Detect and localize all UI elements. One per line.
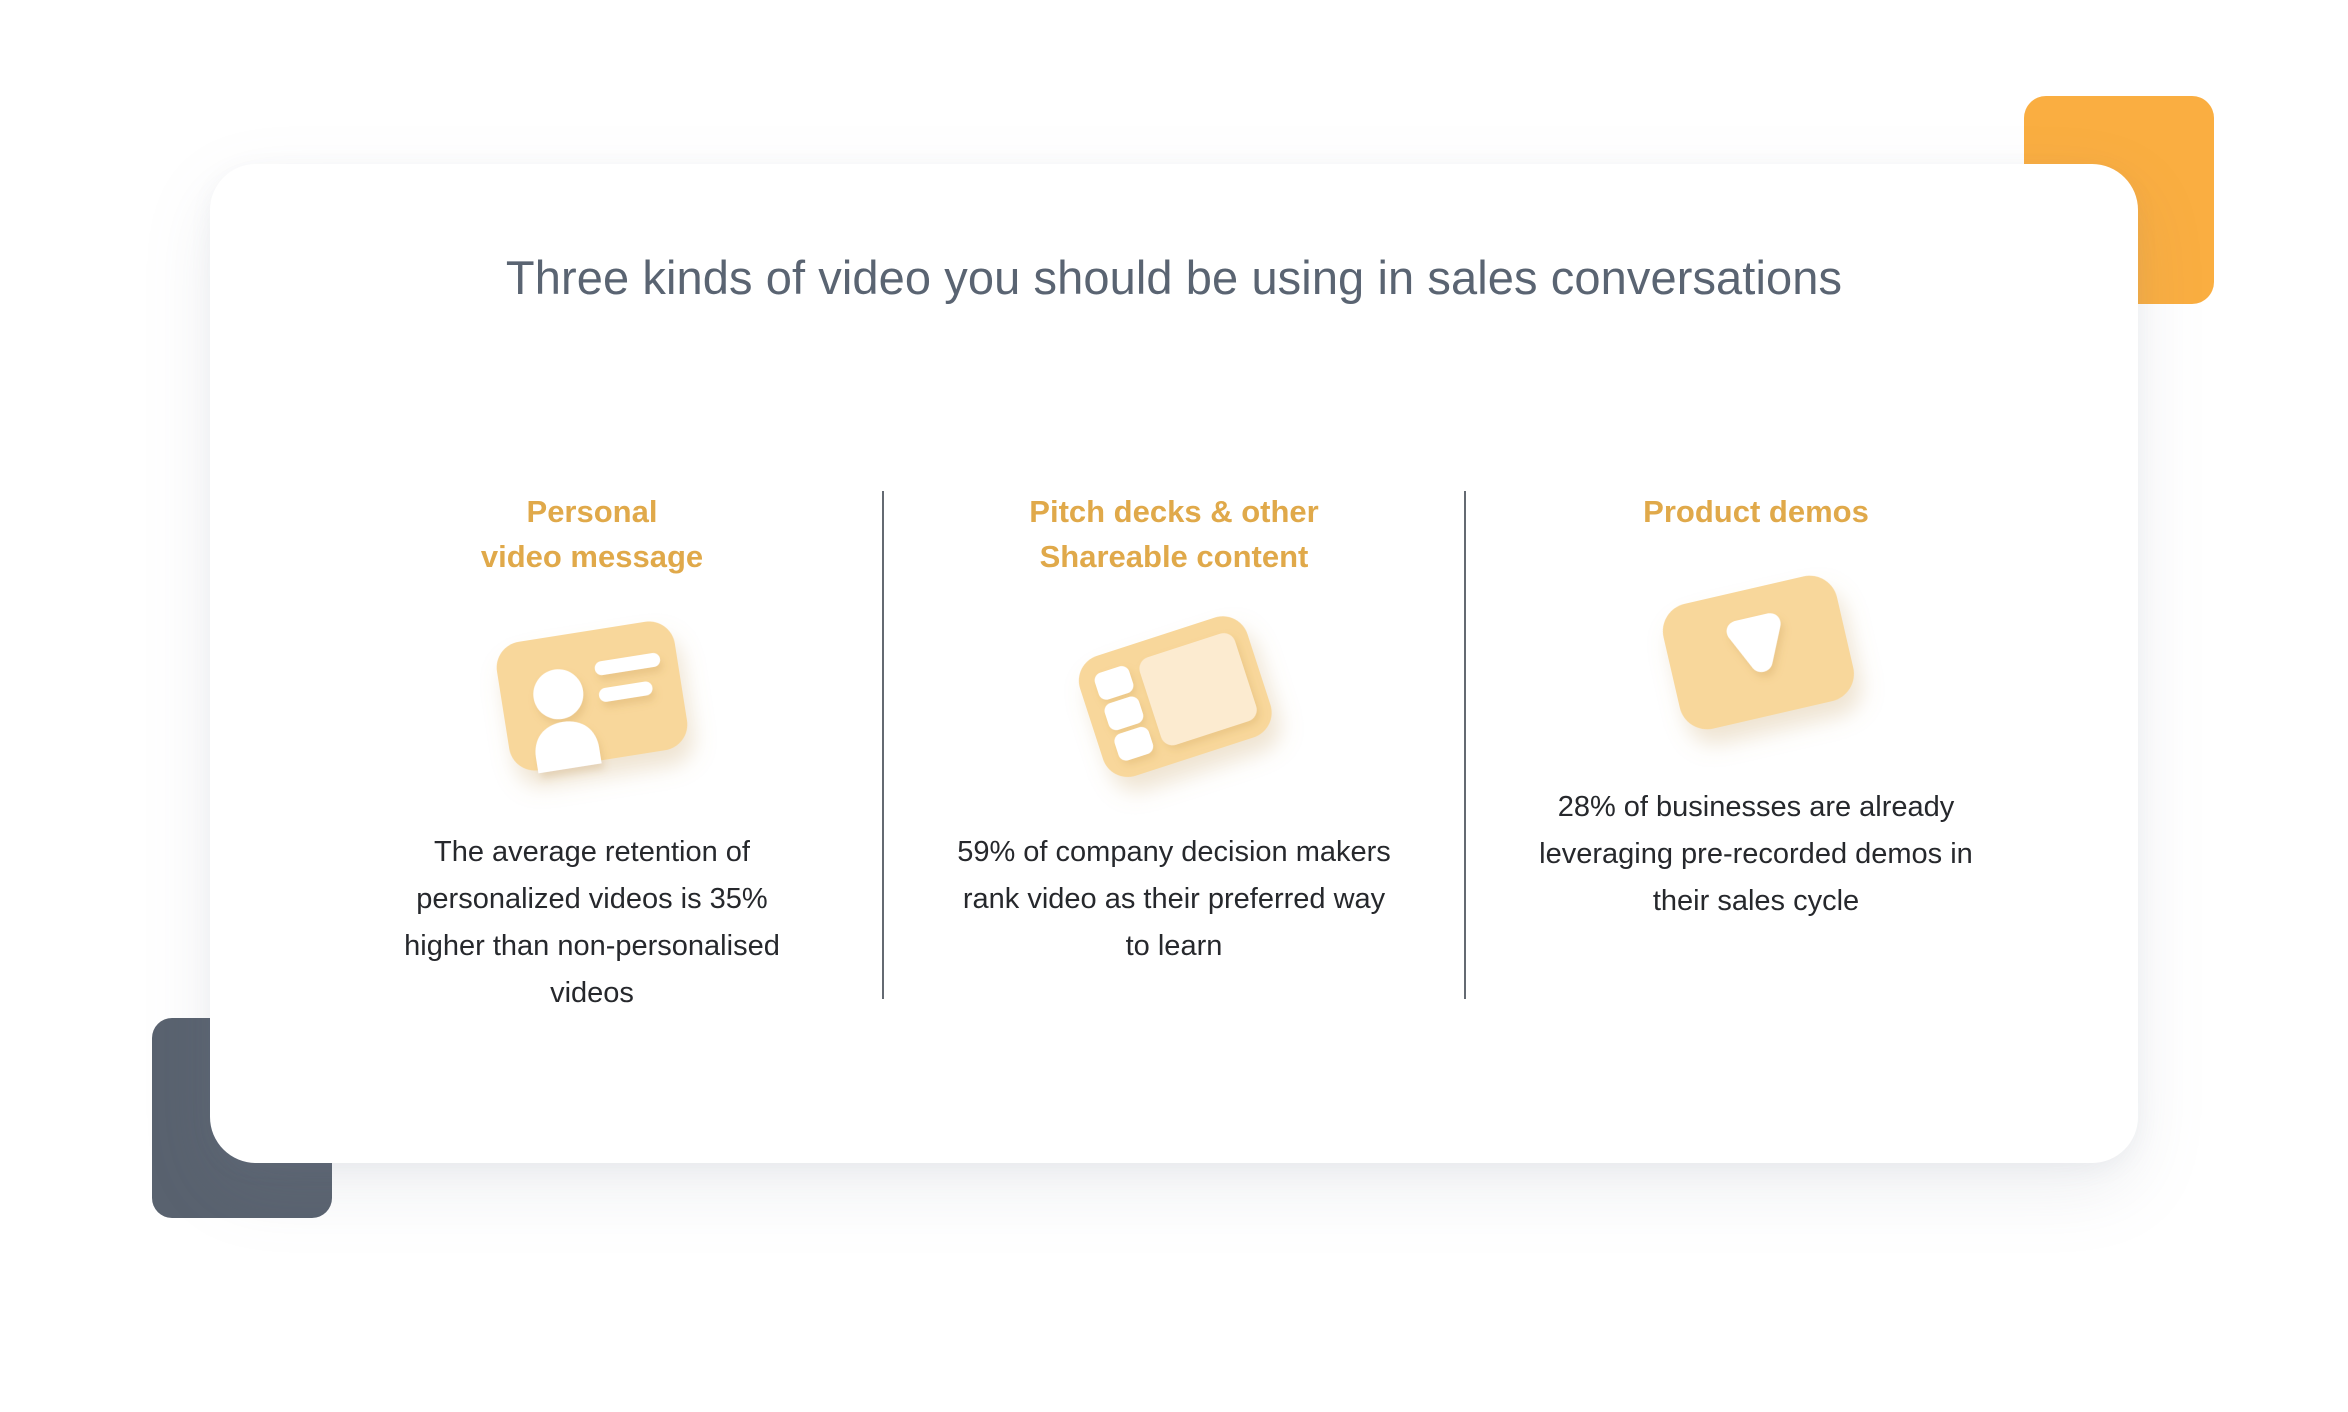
column-product-demos: Product demos xyxy=(1466,489,2046,925)
column-body-text: 28% of businesses are already leveraging… xyxy=(1530,784,1982,925)
column-personal-video-message: Personal video message xyxy=(302,489,882,1017)
column-pitch-decks: Pitch decks & other Shareable content xyxy=(884,489,1464,970)
column-heading: Personal video message xyxy=(481,489,703,579)
column-heading: Product demos xyxy=(1643,489,1869,534)
columns-container: Personal video message xyxy=(302,489,2046,1017)
column-body-text: 59% of company decision makers rank vide… xyxy=(948,829,1400,970)
play-button-card-icon xyxy=(1616,556,1896,746)
content-card: Three kinds of video you should be using… xyxy=(210,164,2138,1163)
person-video-card-icon xyxy=(452,601,732,791)
slide-deck-icon xyxy=(1034,601,1314,791)
column-body-text: The average retention of personalized vi… xyxy=(366,829,818,1017)
page-title: Three kinds of video you should be using… xyxy=(210,250,2138,305)
infographic-stage: Three kinds of video you should be using… xyxy=(0,0,2348,1412)
column-heading: Pitch decks & other Shareable content xyxy=(1029,489,1318,579)
